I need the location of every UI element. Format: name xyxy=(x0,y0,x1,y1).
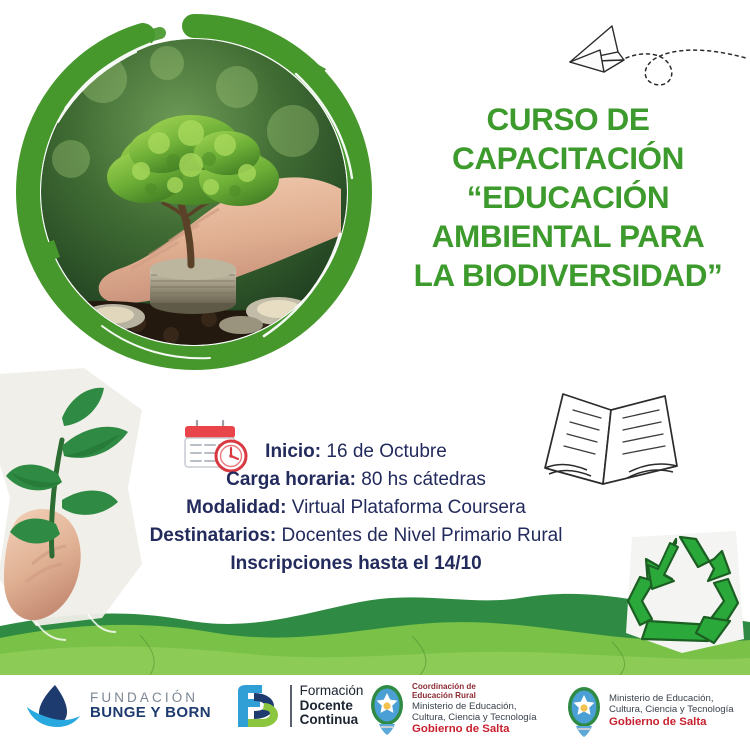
salta-shield-icon xyxy=(368,683,406,735)
detail-label-carga-horaria: Carga horaria: xyxy=(226,469,356,490)
gob1-coord-1: Coordinación de xyxy=(412,682,537,691)
detail-value-destinatarios: Docentes de Nivel Primario Rural xyxy=(282,525,563,546)
bunge-y-born-mark-icon xyxy=(25,683,81,729)
fdc-line-2: Docente xyxy=(300,699,364,714)
detail-value-modalidad: Virtual Plataforma Coursera xyxy=(292,497,526,518)
footer-logos: FUNDACIÓN BUNGE Y BORN Formación Docente… xyxy=(0,675,750,750)
detail-label-modalidad: Modalidad: xyxy=(186,497,286,518)
poster-canvas: CURSO DE CAPACITACIÓN “EDUCACIÓN AMBIENT… xyxy=(0,0,750,750)
course-details: Inicio: 16 de Octubre Carga horaria: 80 … xyxy=(96,438,616,578)
fdc-monogram-icon xyxy=(234,683,282,729)
title-line-2: CAPACITACIÓN xyxy=(392,139,744,178)
green-brush-ring xyxy=(10,8,378,376)
logo-gobierno-salta-educacion-rural: Coordinación de Educación Rural Minister… xyxy=(368,682,537,737)
detail-row-inscripciones: Inscripciones hasta el 14/10 xyxy=(96,550,616,578)
fdc-line-3: Continua xyxy=(300,713,364,728)
logo-formacion-docente-continua: Formación Docente Continua xyxy=(234,683,363,729)
logo-gobierno-salta: Ministerio de Educación, Cultura, Cienci… xyxy=(565,685,734,737)
fdc-line-1: Formación xyxy=(300,684,364,699)
detail-row-destinatarios: Destinatarios: Docentes de Nivel Primari… xyxy=(96,522,616,550)
gob2-ministry-1: Ministerio de Educación, xyxy=(609,693,734,704)
title-line-5: LA BIODIVERSIDAD” xyxy=(392,256,744,295)
title-line-4: AMBIENTAL PARA xyxy=(392,217,744,256)
paper-plane-icon xyxy=(560,14,750,110)
gob1-ministry-2: Cultura, Ciencia y Tecnología xyxy=(412,712,537,723)
fdc-divider xyxy=(290,685,292,727)
detail-label-inicio: Inicio: xyxy=(265,441,321,462)
logo-fundacion-bunge-y-born: FUNDACIÓN BUNGE Y BORN xyxy=(25,683,211,729)
detail-row-modalidad: Modalidad: Virtual Plataforma Coursera xyxy=(96,494,616,522)
detail-value-inicio: 16 de Octubre xyxy=(326,441,446,462)
detail-value-carga-horaria: 80 hs cátedras xyxy=(361,469,486,490)
gob1-ministry-1: Ministerio de Educación, xyxy=(412,701,537,712)
gob1-coord-2: Educación Rural xyxy=(412,691,537,700)
gob2-government: Gobierno de Salta xyxy=(609,716,734,729)
detail-label-inscripciones: Inscripciones hasta el 14/10 xyxy=(230,553,481,574)
gob1-government: Gobierno de Salta xyxy=(412,723,537,736)
title-line-3: “EDUCACIÓN xyxy=(392,178,744,217)
fbb-line-2: BUNGE Y BORN xyxy=(90,705,211,720)
gob2-ministry-2: Cultura, Ciencia y Tecnología xyxy=(609,704,734,715)
tree-on-coins-photo xyxy=(10,8,378,376)
detail-row-carga-horaria: Carga horaria: 80 hs cátedras xyxy=(96,466,616,494)
detail-row-inicio: Inicio: 16 de Octubre xyxy=(96,438,616,466)
recycle-icon xyxy=(618,521,750,657)
detail-label-destinatarios: Destinatarios: xyxy=(150,525,277,546)
fbb-line-1: FUNDACIÓN xyxy=(90,691,211,705)
poster-title: CURSO DE CAPACITACIÓN “EDUCACIÓN AMBIENT… xyxy=(392,100,744,294)
salta-shield-icon-2 xyxy=(565,685,603,737)
